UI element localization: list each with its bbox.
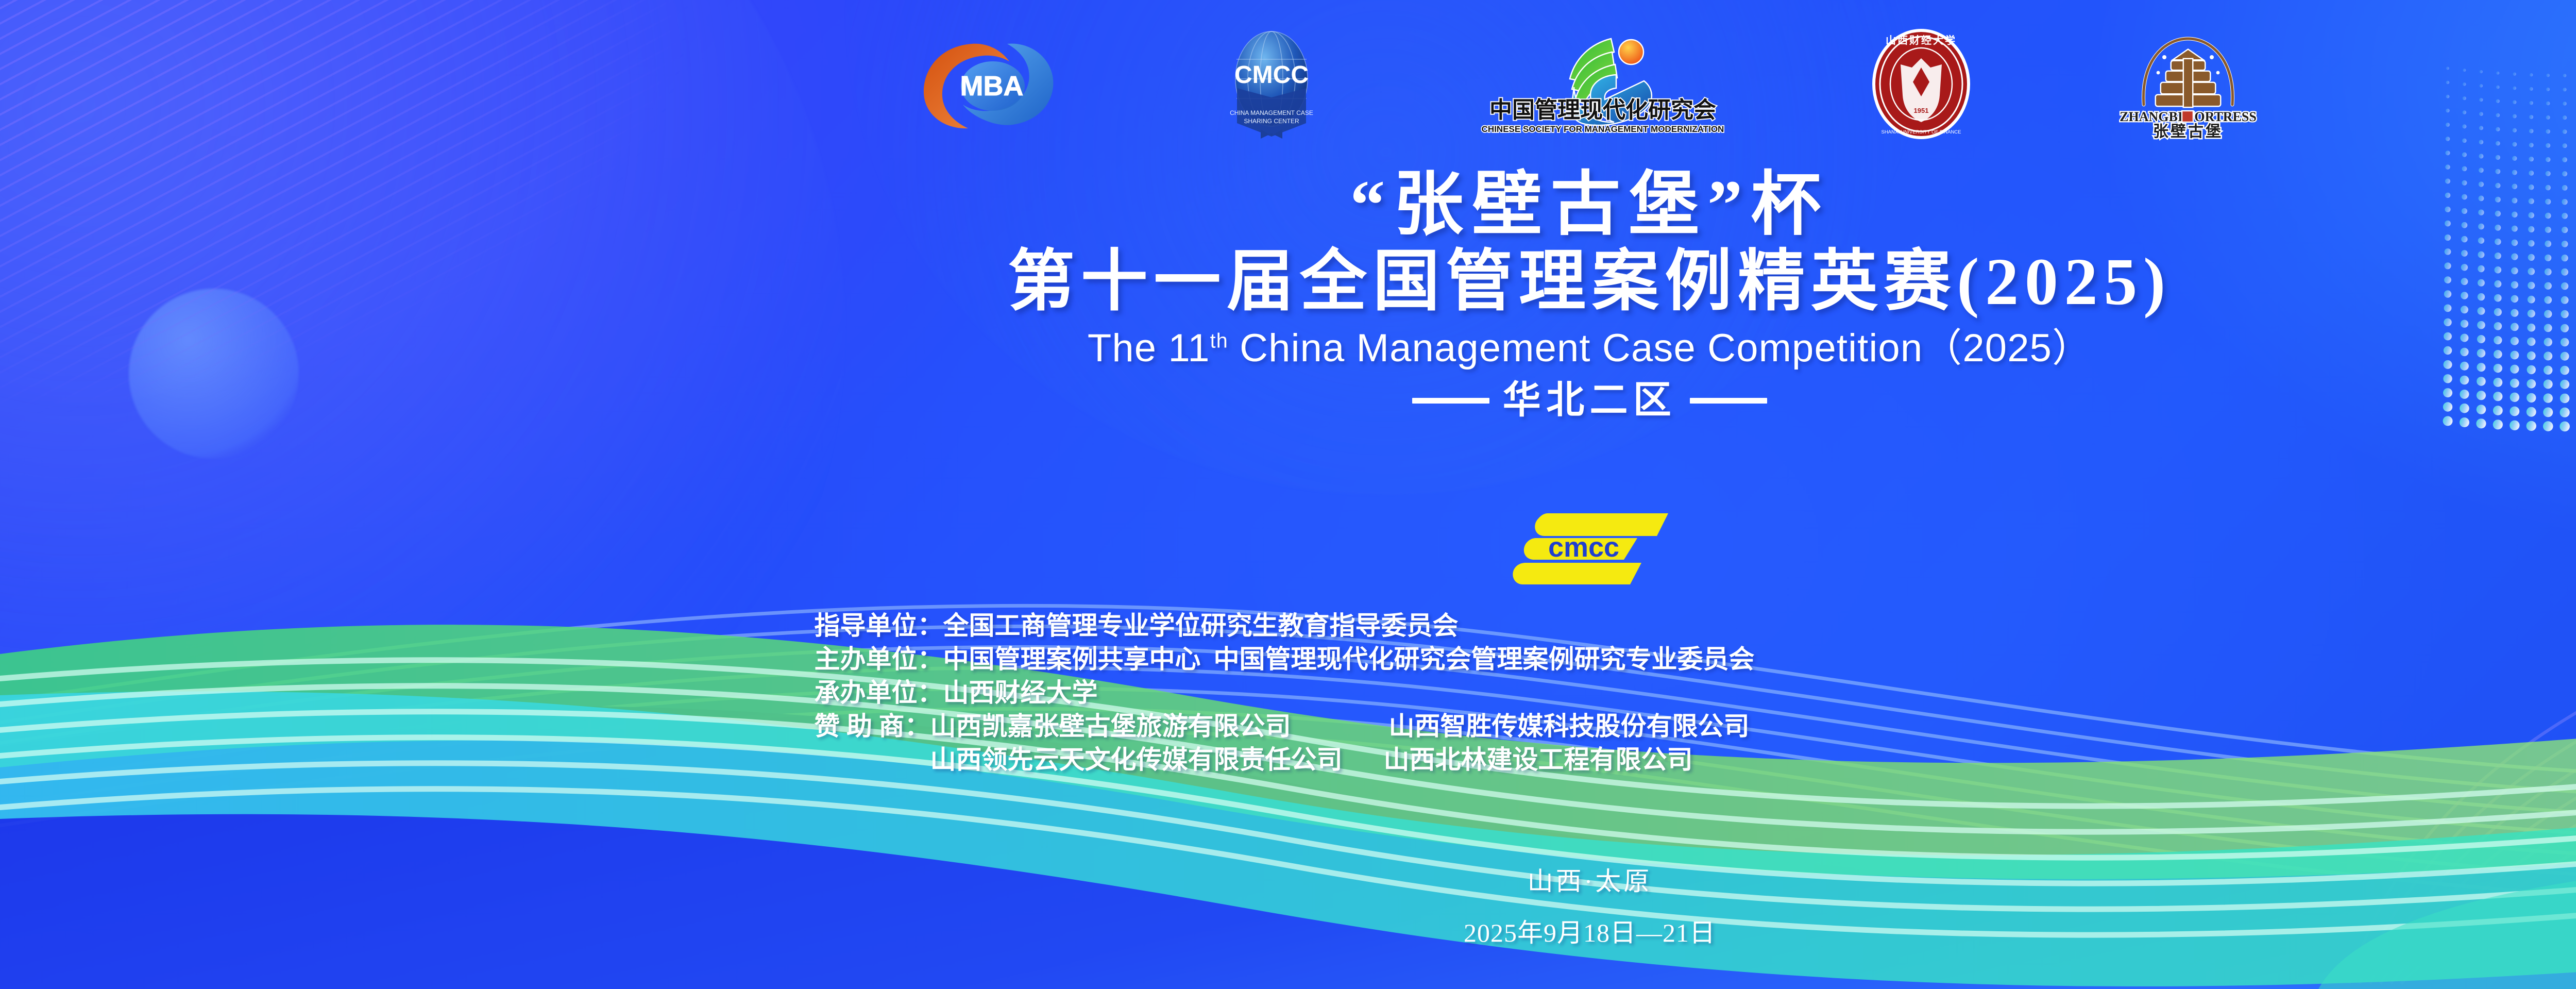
title-english-rest: China Management Case Competition（2025） <box>1228 326 2092 370</box>
csmm-logo: 中国管理现代化研究会 CHINESE SOCIETY FOR MANAGEMEN… <box>1474 27 1732 141</box>
svg-text:CHINA MANAGEMENT CASE: CHINA MANAGEMENT CASE <box>1230 109 1313 116</box>
mba-logo-mark: MBA <box>914 32 1069 136</box>
host-value: 中国管理案例共享中心 中国管理现代化研究会管理案例研究专业委员会 <box>943 643 1755 676</box>
zhangbi-fortress-logo: ZHANGBI FORTRESS 张壁古堡 ZHANGBI FORTRESS <box>2111 27 2265 141</box>
info-row-sponsor-2: 赞 助 商： 山西领先云天文化传媒有限责任公司 山西北林建设工程有限公司 <box>815 743 2365 777</box>
svg-text:CHINESE SOCIETY FOR MANAGEMENT: CHINESE SOCIETY FOR MANAGEMENT MODERNIZA… <box>1481 124 1724 134</box>
host-label: 主办单位： <box>815 643 943 676</box>
sponsor-1-left: 山西凯嘉张壁古堡旅游有限公司 <box>930 710 1291 743</box>
svg-text:张壁古堡: 张壁古堡 <box>2153 123 2223 140</box>
svg-text:CMCC: CMCC <box>1234 61 1309 89</box>
title-english: The 11th China Management Case Competiti… <box>0 329 2576 368</box>
svg-text:SHARING CENTER: SHARING CENTER <box>1244 118 1299 125</box>
info-row-organizer: 承办单位： 山西财经大学 <box>815 676 2365 710</box>
sxufe-logo: 1951 山西财经大学 SHANXI UNIVERSITY OF FINANCE… <box>1870 27 1973 141</box>
info-row-guidance: 指导单位： 全国工商管理专业学位研究生教育指导委员会 <box>815 609 2365 643</box>
title-line-1: “张壁古堡”杯 <box>0 170 2576 240</box>
info-row-host: 主办单位： 中国管理案例共享中心 中国管理现代化研究会管理案例研究专业委员会 <box>815 643 2365 676</box>
svg-text:SHANXI UNIVERSITY OF FINANCE: SHANXI UNIVERSITY OF FINANCE <box>1881 129 1961 135</box>
region-dash-right <box>1690 398 1767 404</box>
sponsor-2-left: 山西领先云天文化传媒有限责任公司 <box>930 743 1343 777</box>
title-english-prefix: The 11 <box>1088 326 1210 370</box>
svg-text:MBA: MBA <box>960 71 1023 102</box>
info-row-sponsor-1: 赞 助 商： 山西凯嘉张壁古堡旅游有限公司 山西智胜传媒科技股份有限公司 <box>815 710 2365 743</box>
info-block: 指导单位： 全国工商管理专业学位研究生教育指导委员会 主办单位： 中国管理案例共… <box>0 609 2576 777</box>
svg-text:中国管理现代化研究会: 中国管理现代化研究会 <box>1489 97 1716 123</box>
organizer-label: 承办单位： <box>815 676 943 710</box>
guidance-value: 全国工商管理专业学位研究生教育指导委员会 <box>943 609 1459 643</box>
sponsor-label: 赞 助 商： <box>815 710 930 743</box>
cmcc-wordmark-text: cmcc <box>1548 532 1619 563</box>
mba-logo: MBA MBA <box>914 32 1069 136</box>
guidance-label: 指导单位： <box>815 609 943 643</box>
sponsor-logo-row: MBA MBA <box>0 20 2576 148</box>
title-english-ordinal: th <box>1210 330 1228 353</box>
title-block: “张壁古堡”杯 第十一届全国管理案例精英赛(2025) The 11th Chi… <box>0 170 2576 420</box>
event-dates: 2025年9月18日—21日 <box>0 912 2576 949</box>
csmm-logo-mark: 中国管理现代化研究会 CHINESE SOCIETY FOR MANAGEMEN… <box>1474 27 1732 141</box>
svg-text:1951: 1951 <box>1913 107 1928 114</box>
organizer-value: 山西财经大学 <box>943 676 1098 710</box>
zhangbi-fortress-mark: ZHANGBI FORTRESS 张壁古堡 <box>2111 27 2265 141</box>
sponsor-column-gap <box>1291 710 1389 743</box>
region-dash-left <box>1412 398 1489 404</box>
event-place: 山西·太原 <box>0 861 2576 898</box>
cmcc-shield-logo: CMCC CHINA MANAGEMENT CASE SHARING CENTE… <box>1207 27 1336 141</box>
cmcc-shield-mark: CMCC CHINA MANAGEMENT CASE SHARING CENTE… <box>1207 27 1336 141</box>
cmcc-wordmark-mark: cmcc <box>1487 509 1693 586</box>
title-region: 华北二区 <box>0 381 2576 420</box>
sponsor-2-right: 山西北林建设工程有限公司 <box>1384 743 1693 777</box>
region-label: 华北二区 <box>1503 381 1676 420</box>
svg-text:山西财经大学: 山西财经大学 <box>1886 34 1957 46</box>
cmcc-wordmark: cmcc cmcc <box>1487 509 1693 586</box>
sxufe-logo-mark: 1951 山西财经大学 SHANXI UNIVERSITY OF FINANCE <box>1870 27 1973 141</box>
event-poster: MBA MBA <box>0 0 2576 989</box>
sponsor-1-right: 山西智胜传媒科技股份有限公司 <box>1389 710 1750 743</box>
sponsor-column-gap-2 <box>1343 743 1384 777</box>
title-line-2: 第十一届全国管理案例精英赛(2025) <box>0 248 2576 315</box>
